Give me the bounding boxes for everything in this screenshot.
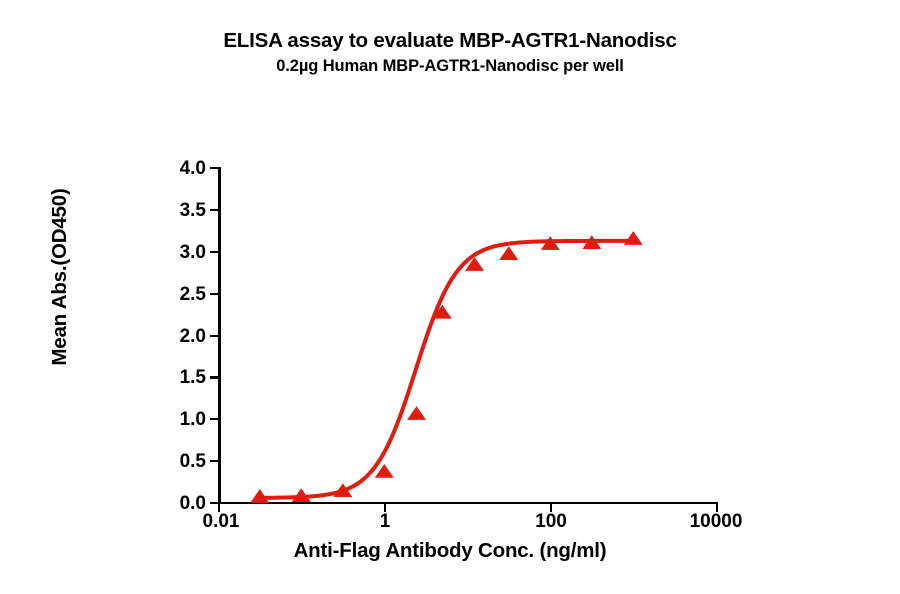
y-tick-4.0: [210, 167, 219, 169]
y-tick-3.5: [210, 209, 219, 211]
y-tick-label-1: 0.5: [180, 452, 206, 471]
y-tick-label-8: 4.0: [180, 159, 206, 178]
y-tick-1.5: [210, 376, 219, 378]
data-point-marker: [407, 406, 426, 420]
x-tick-label-1: 1: [380, 512, 391, 532]
y-tick-labels: 4.0 3.5 3.0 2.5 2.0 1.5 1.0 0.5 0.0: [140, 0, 206, 594]
y-tick-2.5: [210, 293, 219, 295]
x-tick-label-3: 10000: [690, 512, 743, 532]
y-tick-label-4: 2.0: [180, 327, 206, 346]
y-tick-2.0: [210, 335, 219, 337]
y-tick-0.5: [210, 460, 219, 462]
y-tick-label-2: 1.0: [180, 410, 206, 429]
y-tick-3.0: [210, 251, 219, 253]
chart-title: ELISA assay to evaluate MBP-AGTR1-Nanodi…: [0, 28, 900, 53]
chart-figure: ELISA assay to evaluate MBP-AGTR1-Nanodi…: [0, 0, 900, 594]
x-tick-label-0: 0.01: [203, 512, 240, 532]
y-tick-label-7: 3.5: [180, 201, 206, 220]
fit-curve: [260, 241, 633, 498]
data-series-svg: [219, 168, 717, 503]
x-tick-label-2: 100: [535, 512, 567, 532]
data-point-marker: [624, 231, 643, 245]
data-point-marker: [499, 246, 518, 260]
x-axis-title: Anti-Flag Antibody Conc. (ng/ml): [0, 539, 900, 563]
y-tick-label-6: 3.0: [180, 243, 206, 262]
chart-subtitle: 0.2µg Human MBP-AGTR1-Nanodisc per well: [0, 55, 900, 77]
y-tick-1.0: [210, 418, 219, 420]
y-tick-label-3: 1.5: [180, 368, 206, 387]
y-tick-label-5: 2.5: [180, 285, 206, 304]
chart-title-block: ELISA assay to evaluate MBP-AGTR1-Nanodi…: [0, 28, 900, 77]
plot-area: [219, 168, 717, 503]
y-axis-title: Mean Abs.(OD450): [48, 67, 72, 487]
